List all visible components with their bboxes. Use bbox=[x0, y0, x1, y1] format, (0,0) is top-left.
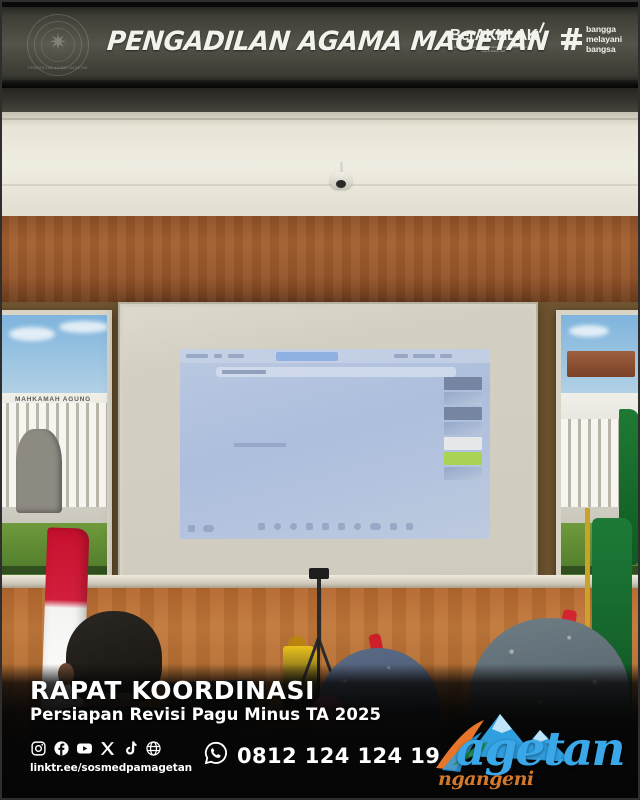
tiktok-icon[interactable] bbox=[122, 740, 139, 757]
photo-building-label: MAHKAMAH AGUNG bbox=[0, 396, 107, 403]
social-media-poster: ✷ PENGADILAN AGAMA MAGETAN PENGADILAN AG… bbox=[0, 0, 640, 800]
berakhlak-subtext: Berorientasi Pelayanan Akuntabel Kompete… bbox=[450, 46, 536, 54]
bangga-line-1: bangga bbox=[586, 24, 622, 34]
bangga-line-3: bangsa bbox=[586, 44, 622, 54]
participant-tile[interactable] bbox=[444, 467, 482, 480]
cctv-camera-icon bbox=[330, 172, 352, 192]
magetan-ngangeni-logo: agetan ngangeni bbox=[422, 696, 622, 792]
record-icon[interactable] bbox=[338, 523, 345, 530]
linktree-url[interactable]: linktr.ee/sosmedpamagetan bbox=[30, 762, 192, 774]
caption-subtitle: Persiapan Revisi Pagu Minus TA 2025 bbox=[30, 705, 381, 724]
website-globe-icon[interactable] bbox=[145, 740, 162, 757]
caption-title: RAPAT KOORDINASI bbox=[30, 676, 315, 705]
meeting-toolbar[interactable] bbox=[180, 517, 490, 535]
bangga-line-2: melayani bbox=[586, 34, 622, 44]
bangga-melayani-bangsa-logo: bangga melayani bangsa bbox=[561, 24, 622, 54]
seal-icon: ✷ PENGADILAN AGAMA MAGETAN bbox=[27, 14, 89, 76]
x-twitter-icon[interactable] bbox=[99, 740, 116, 757]
whatsapp-icon[interactable] bbox=[203, 740, 229, 771]
reactions-icon[interactable] bbox=[354, 523, 361, 530]
whatsapp-contact[interactable]: 0812 124 124 19 bbox=[203, 740, 440, 771]
participant-tile[interactable] bbox=[444, 392, 482, 405]
ceiling bbox=[0, 88, 640, 216]
settings-icon[interactable] bbox=[406, 523, 413, 530]
participant-thumbnails[interactable] bbox=[444, 377, 482, 480]
chat-icon[interactable] bbox=[306, 523, 313, 530]
participant-tile[interactable] bbox=[444, 452, 482, 465]
participant-tile[interactable] bbox=[444, 407, 482, 420]
participant-tile[interactable] bbox=[444, 437, 482, 450]
participant-tile[interactable] bbox=[444, 422, 482, 435]
participants-icon[interactable] bbox=[290, 523, 297, 530]
social-icons-row[interactable] bbox=[30, 740, 162, 757]
video-conference-window[interactable] bbox=[180, 349, 490, 539]
apps-icon[interactable] bbox=[370, 523, 381, 530]
browser-tab[interactable] bbox=[276, 352, 338, 361]
whatsapp-number[interactable]: 0812 124 124 19 bbox=[237, 744, 440, 768]
more-icon[interactable] bbox=[390, 523, 397, 530]
youtube-icon[interactable] bbox=[76, 740, 93, 757]
projection-screen[interactable] bbox=[123, 307, 533, 577]
magetan-tagline: ngangeni bbox=[438, 768, 534, 790]
wood-wall-upper bbox=[0, 216, 640, 302]
facebook-icon[interactable] bbox=[53, 740, 70, 757]
instagram-icon[interactable] bbox=[30, 740, 47, 757]
camera-icon[interactable] bbox=[274, 523, 281, 530]
berakhlak-label: BerAKHLAK bbox=[450, 27, 538, 44]
meeting-stage bbox=[186, 381, 426, 513]
share-screen-icon[interactable] bbox=[322, 523, 329, 530]
berakhlak-logo: BerAKHLAK Berorientasi Pelayanan Akuntab… bbox=[450, 27, 536, 54]
participant-tile[interactable] bbox=[444, 377, 482, 390]
hashtag-icon bbox=[561, 28, 582, 50]
poster-header: ✷ PENGADILAN AGAMA MAGETAN PENGADILAN AG… bbox=[0, 0, 640, 88]
microphone-icon[interactable] bbox=[258, 523, 265, 530]
seal-label: PENGADILAN AGAMA MAGETAN bbox=[28, 66, 88, 70]
